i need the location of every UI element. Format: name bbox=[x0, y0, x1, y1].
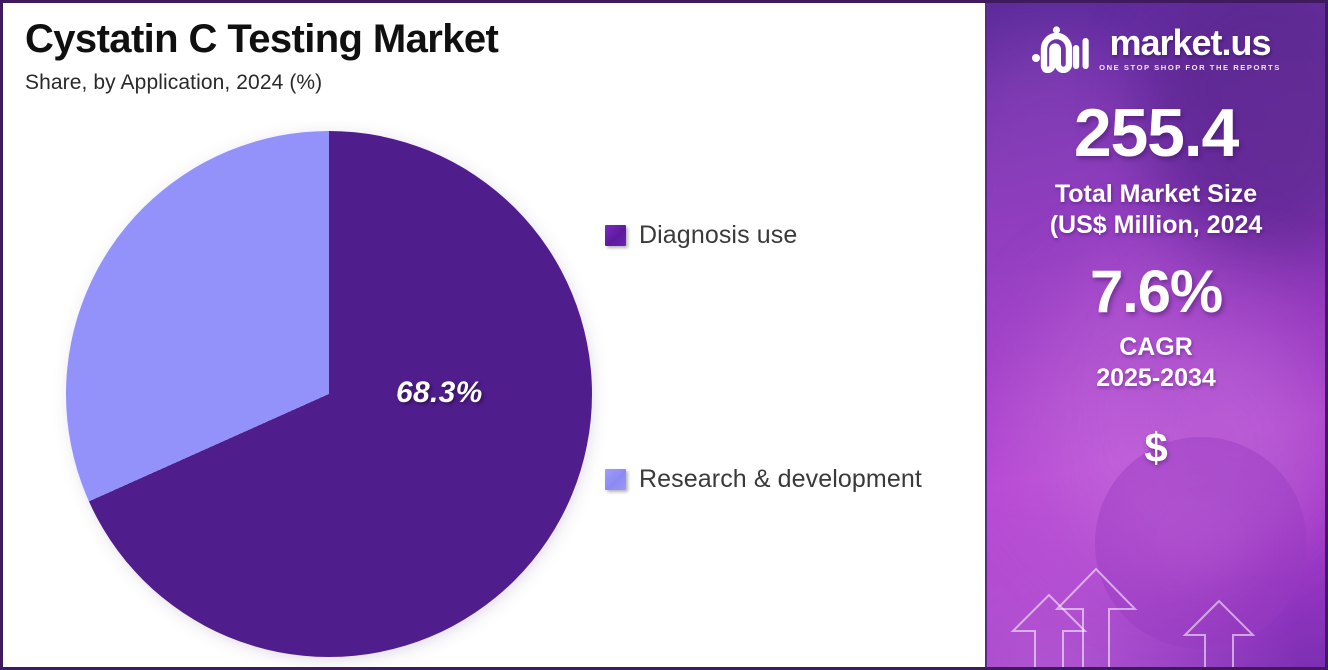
market-size-caption-line1: Total Market Size bbox=[1050, 179, 1263, 210]
brand-logo-text: market.us ONE STOP SHOP FOR THE REPORTS bbox=[1099, 26, 1281, 73]
legend-swatch-icon-research-development bbox=[605, 469, 626, 490]
dollar-icon: $ bbox=[1144, 427, 1167, 469]
brand-name: market.us bbox=[1109, 26, 1270, 61]
legend-item-diagnosis-use[interactable]: Diagnosis use bbox=[605, 221, 797, 250]
brand-logo[interactable]: market.us ONE STOP SHOP FOR THE REPORTS bbox=[1031, 25, 1281, 73]
stats-content: market.us ONE STOP SHOP FOR THE REPORTS … bbox=[987, 3, 1325, 667]
cagr-value: 7.6% bbox=[1090, 262, 1222, 322]
market-us-logo-mark-icon bbox=[1031, 25, 1089, 73]
legend-swatch-icon-diagnosis-use bbox=[605, 225, 626, 246]
cagr-caption-line1: CAGR bbox=[1096, 332, 1216, 363]
chart-panel: Cystatin C Testing Market Share, by Appl… bbox=[3, 3, 987, 667]
brand-tagline: ONE STOP SHOP FOR THE REPORTS bbox=[1099, 63, 1281, 72]
market-size-value: 255.4 bbox=[1074, 99, 1238, 167]
pie-slice-label-diagnosis-use: 68.3% bbox=[396, 376, 483, 410]
market-size-caption: Total Market Size (US$ Million, 2024 bbox=[1050, 179, 1263, 240]
page-subtitle: Share, by Application, 2024 (%) bbox=[25, 71, 498, 95]
legend-item-research-development[interactable]: Research & development bbox=[605, 465, 922, 494]
cagr-caption: CAGR 2025-2034 bbox=[1096, 332, 1216, 393]
title-block: Cystatin C Testing Market Share, by Appl… bbox=[25, 17, 498, 95]
legend-label-research-development: Research & development bbox=[639, 465, 922, 494]
legend-label-diagnosis-use: Diagnosis use bbox=[639, 221, 797, 250]
pie-chart: 68.3% bbox=[66, 131, 592, 657]
infographic-root: Cystatin C Testing Market Share, by Appl… bbox=[0, 0, 1328, 670]
pie-disc bbox=[66, 131, 592, 657]
market-size-caption-line2: (US$ Million, 2024 bbox=[1050, 210, 1263, 241]
cagr-caption-line2: 2025-2034 bbox=[1096, 363, 1216, 394]
stats-panel: market.us ONE STOP SHOP FOR THE REPORTS … bbox=[987, 3, 1325, 667]
page-title: Cystatin C Testing Market bbox=[25, 17, 498, 61]
